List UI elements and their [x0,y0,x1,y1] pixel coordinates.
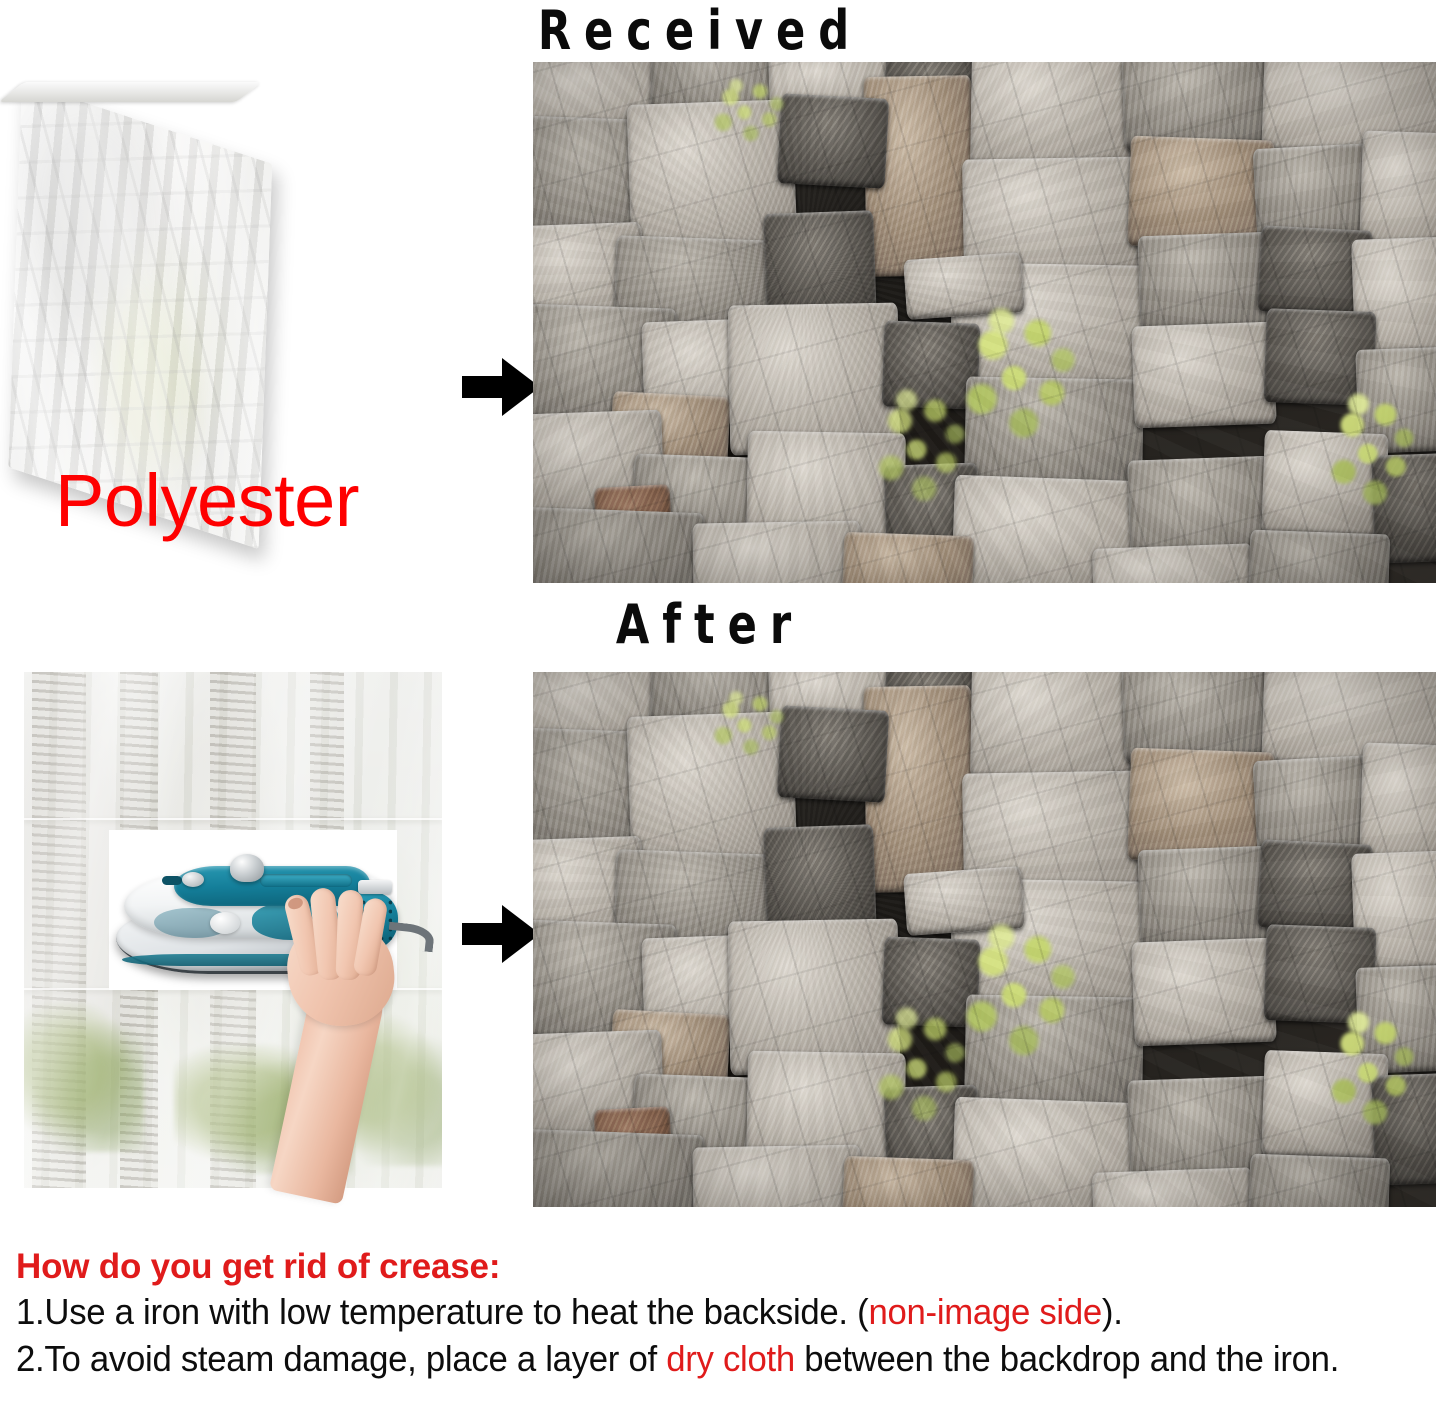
folded-fabric-image [22,82,362,482]
section-title-after: After [502,596,918,654]
stone-field [533,62,1436,583]
fabric-top-edge [0,82,262,102]
step-1-highlight: non-image side [868,1291,1101,1332]
step-1-prefix: 1.Use a iron with low temperature to hea… [16,1291,868,1332]
instructions-heading: How do you get rid of crease: [16,1246,1426,1288]
backdrop-photo-after [533,672,1436,1207]
instructions-block: How do you get rid of crease: 1.Use a ir… [16,1246,1426,1382]
right-arrow-icon [462,905,540,963]
step-2-suffix: between the backdrop and the iron. [795,1338,1339,1379]
iron-temperature-dial [210,912,240,934]
iron-handle-groove [260,874,352,887]
section-title-received: Received [444,2,956,60]
step-1-suffix: ). [1102,1291,1123,1332]
backdrop-photo-received [533,62,1436,583]
ironing-demo-image [24,672,442,1188]
right-arrow-icon [462,358,540,416]
step-2-highlight: dry cloth [666,1338,795,1379]
iron-steam-knob [230,854,264,882]
instruction-step-1: 1.Use a iron with low temperature to hea… [16,1288,1377,1335]
iron-spray-slot [162,876,182,885]
step-2-prefix: 2.To avoid steam damage, place a layer o… [16,1338,666,1379]
hand-image [240,888,450,1188]
material-label-polyester: Polyester [55,462,359,540]
stone-field [533,672,1436,1207]
instruction-step-2: 2.To avoid steam damage, place a layer o… [16,1335,1377,1382]
iron-steam-button [182,872,204,887]
